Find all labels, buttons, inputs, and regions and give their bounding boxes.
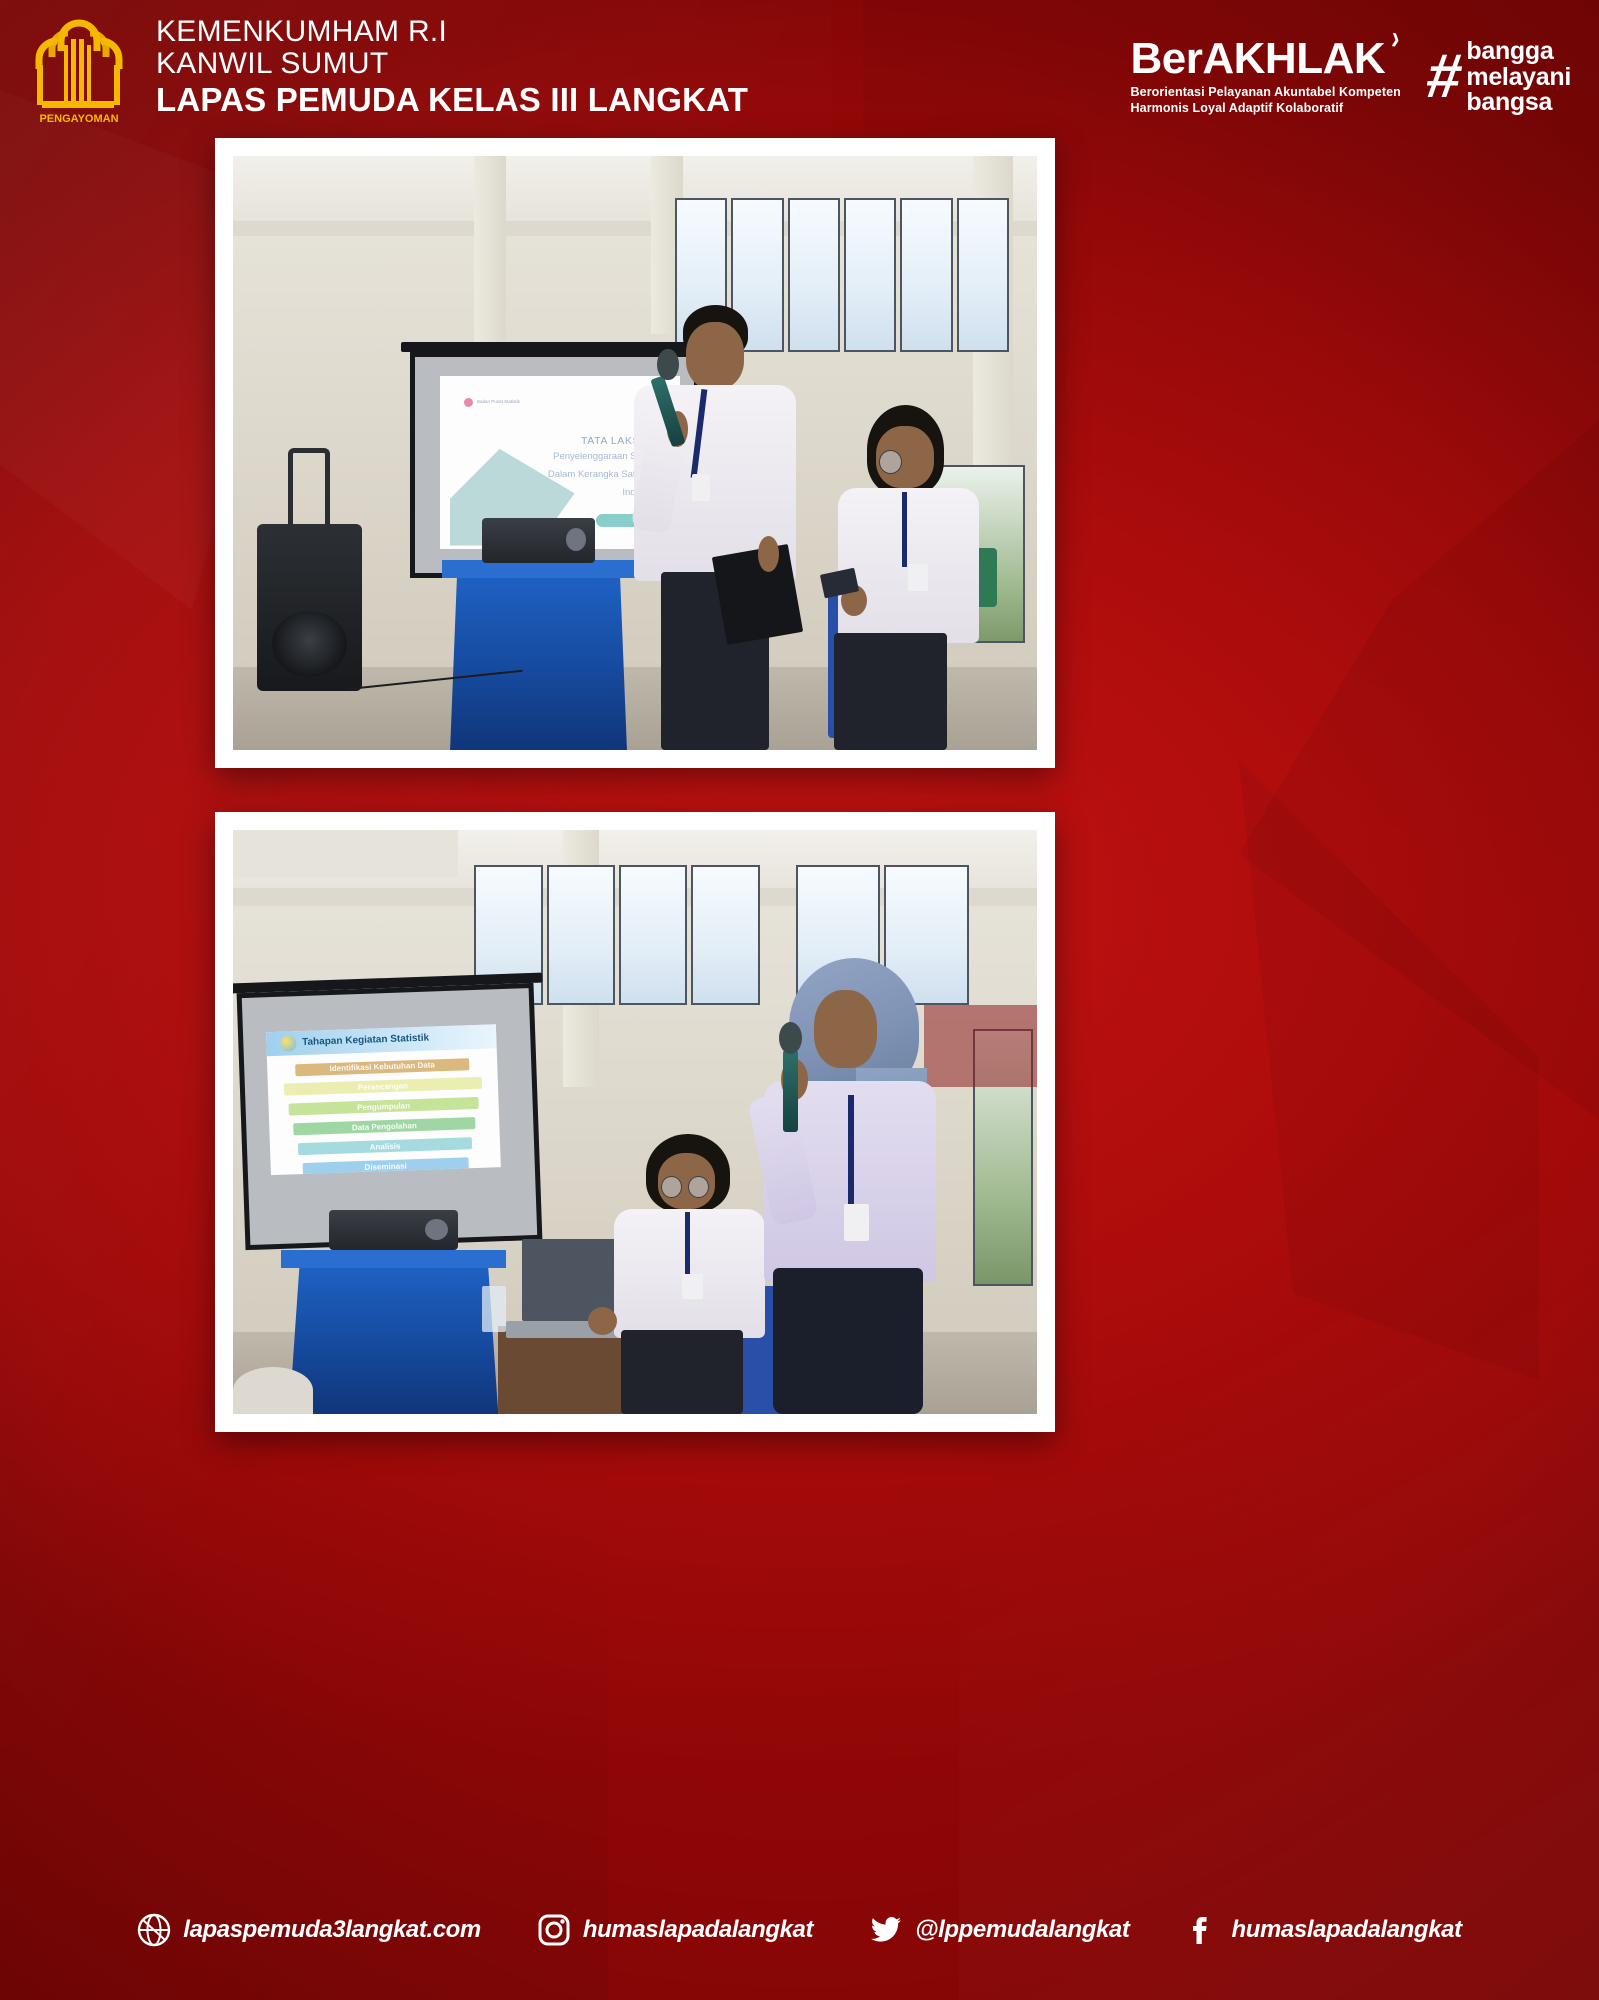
microphone: [783, 1050, 798, 1132]
hashtag-icon: #: [1424, 53, 1462, 101]
header-line-institution: LAPAS PEMUDA KELAS III LANGKAT: [156, 82, 748, 119]
window-pane: [619, 865, 687, 1005]
berakhlak-subtitle-2: Harmonis Loyal Adaptif Kolaboratif: [1131, 100, 1401, 116]
water-bottle: [482, 1286, 506, 1333]
head: [686, 322, 744, 389]
microphone-head: [657, 349, 678, 380]
projector-lens-icon: [425, 1219, 448, 1240]
slide-2-step-label: Perancangan: [358, 1081, 409, 1092]
slide-2-step-label: Identifikasi Kebutuhan Data: [329, 1060, 435, 1073]
page-footer: lapaspemuda3langkat.com humaslapadalangk…: [0, 1860, 1599, 2000]
id-badge: [908, 564, 927, 592]
slide-2-step: Data Pengolahan: [293, 1117, 475, 1135]
slide-2-step-label: Analisis: [370, 1141, 401, 1151]
window-pane: [900, 198, 952, 352]
hand-right: [758, 536, 779, 572]
berakhlak-subtitle-1: Berorientasi Pelayanan Akuntabel Kompete…: [1131, 84, 1401, 100]
slide-2-step: Diseminasi: [302, 1157, 468, 1175]
header-line-ministry: KEMENKUMHAM R.I: [156, 16, 748, 48]
lanyard: [902, 492, 907, 568]
draped-table: [450, 572, 627, 750]
slide-2-step-label: Pengumpulan: [357, 1101, 410, 1112]
photo-2-image: Tahapan Kegiatan Statistik Identifikasi …: [233, 830, 1037, 1414]
slide-2-step-list: Identifikasi Kebutuhan Data Perancangan …: [283, 1057, 484, 1168]
projector-lens-icon: [566, 528, 586, 551]
facebook-icon: [1185, 1913, 1219, 1947]
person-male-presenter: [619, 305, 812, 751]
slide-1-org-caption: Badan Pusat Statistik: [477, 399, 520, 405]
photo-presenter-female: Tahapan Kegiatan Statistik Identifikasi …: [215, 812, 1055, 1432]
draped-table: [289, 1262, 498, 1414]
footer-item-instagram[interactable]: humaslapadalangkat: [537, 1913, 813, 1947]
projector-device: [482, 518, 595, 563]
window-pane: [547, 865, 615, 1005]
footer-item-facebook[interactable]: humaslapadalangkat: [1185, 1913, 1461, 1947]
lanyard: [848, 1095, 854, 1213]
foreground-audience-head: [233, 1367, 313, 1414]
slide-2-step-label: Data Pengolahan: [352, 1121, 417, 1132]
slide-2-header: Tahapan Kegiatan Statistik: [266, 1023, 497, 1055]
person-seated-woman: [828, 405, 989, 750]
slide-2-step: Pengumpulan: [289, 1097, 479, 1116]
projector-device: [329, 1210, 458, 1251]
hand-on-laptop: [588, 1307, 617, 1335]
speaker-handle: [288, 448, 330, 525]
header-titles: KEMENKUMHAM R.I KANWIL SUMUT LAPAS PEMUD…: [156, 16, 748, 119]
skirt: [773, 1268, 924, 1414]
microphone-head: [779, 1022, 802, 1054]
portable-speaker: [257, 524, 362, 690]
pengayoman-caption: PENGAYOMAN: [39, 113, 118, 125]
footer-label-facebook: humaslapadalangkat: [1231, 1916, 1461, 1944]
table-top: [281, 1250, 506, 1268]
header-right-logos: BerAKHLAK › Berorientasi Pelayanan Akunt…: [1131, 19, 1571, 116]
bangga-line-1: bangga: [1466, 39, 1571, 65]
slide-2-logo-icon: [280, 1035, 297, 1052]
berakhlak-logo: BerAKHLAK › Berorientasi Pelayanan Akunt…: [1131, 19, 1401, 116]
id-badge: [682, 1274, 703, 1299]
eyeglasses-left: [661, 1176, 682, 1198]
instagram-icon: [537, 1913, 571, 1947]
page-header: PENGAYOMAN KEMENKUMHAM R.I KANWIL SUMUT …: [0, 0, 1599, 135]
footer-label-instagram: humaslapadalangkat: [583, 1916, 813, 1944]
bangga-line-3: bangsa: [1466, 90, 1571, 116]
berakhlak-text: BerAKHLAK: [1131, 34, 1386, 83]
pengayoman-logo: PENGAYOMAN: [24, 9, 134, 127]
footer-label-website: lapaspemuda3langkat.com: [183, 1916, 481, 1944]
id-badge: [692, 474, 709, 501]
trousers: [621, 1330, 743, 1414]
chevron-right-icon: ›: [1390, 20, 1401, 55]
head: [814, 990, 877, 1067]
footer-label-twitter: @lppemudalangkat: [915, 1916, 1129, 1944]
window-pane: [844, 198, 896, 352]
bangga-lines: bangga melayani bangsa: [1466, 39, 1571, 116]
photo-1-image: Badan Pusat Statistik 2023 TATA LAKSANA …: [233, 156, 1037, 750]
speaker-cone-icon: [272, 611, 347, 678]
footer-item-twitter[interactable]: @lppemudalangkat: [869, 1913, 1129, 1947]
trousers: [834, 633, 947, 750]
twitter-icon: [869, 1913, 903, 1947]
bps-mark-icon: [464, 398, 473, 407]
person-female-presenter: [748, 958, 957, 1414]
id-badge: [844, 1204, 869, 1240]
window-pane: [957, 198, 1009, 352]
bangga-line-2: melayani: [1466, 65, 1571, 91]
slide-2-step: Perancangan: [284, 1077, 482, 1096]
berakhlak-wordmark: BerAKHLAK ›: [1131, 37, 1386, 81]
slide-content-2: Tahapan Kegiatan Statistik Identifikasi …: [266, 1023, 501, 1174]
slide-2-title: Tahapan Kegiatan Statistik: [302, 1032, 429, 1047]
header-line-region: KANWIL SUMUT: [156, 48, 748, 80]
photo-presenter-male: Badan Pusat Statistik 2023 TATA LAKSANA …: [215, 138, 1055, 768]
lanyard: [685, 1212, 690, 1279]
eyeglasses-right: [688, 1176, 709, 1198]
slide-2-step-label: Diseminasi: [364, 1161, 407, 1171]
slide-2-step: Analisis: [298, 1137, 472, 1155]
slide-2-step: Identifikasi Kebutuhan Data: [295, 1057, 469, 1075]
bangga-melayani-bangsa-logo: # bangga melayani bangsa: [1427, 19, 1571, 116]
slide-1-bps-logo: Badan Pusat Statistik: [464, 398, 520, 407]
footer-item-website[interactable]: lapaspemuda3langkat.com: [137, 1913, 481, 1947]
website-icon: [137, 1913, 171, 1947]
wall-pillar-left: [233, 830, 458, 877]
